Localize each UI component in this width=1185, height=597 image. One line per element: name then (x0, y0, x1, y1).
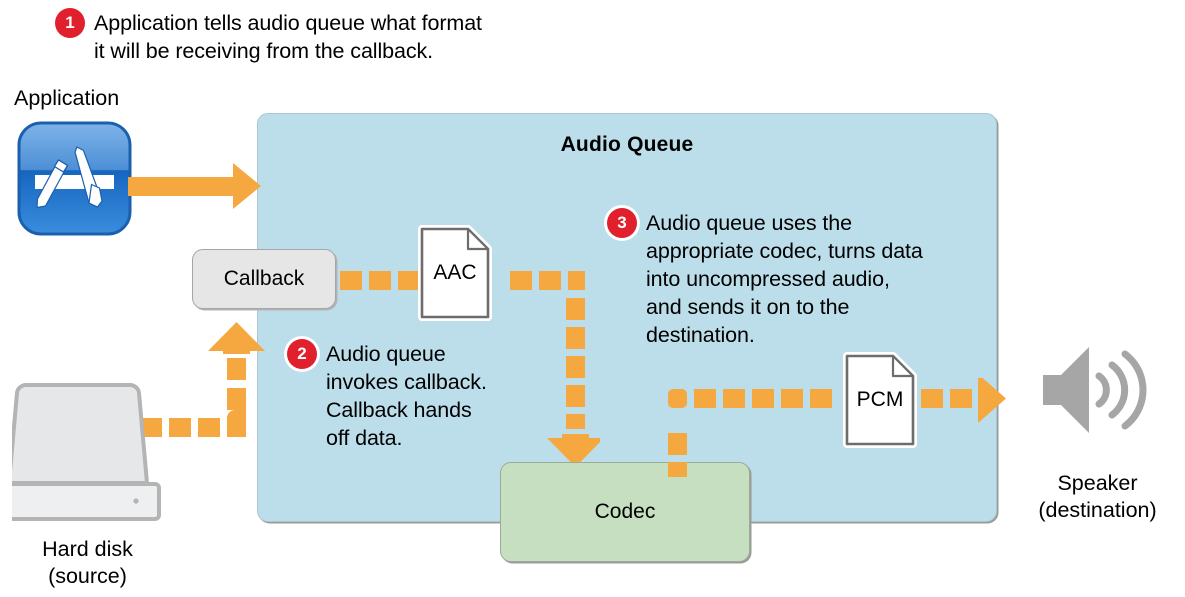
step-1-callout: 1 Application tells audio queue what for… (55, 8, 482, 65)
step-3-callout: 3 Audio queue uses the appropriate codec… (607, 208, 923, 349)
step-2-badge: 2 (287, 339, 317, 369)
pcm-document-icon: PCM (843, 352, 917, 448)
step-2-text: Audio queue invokes callback. Callback h… (326, 339, 487, 452)
application-label: Application (14, 85, 119, 112)
aac-document-icon: AAC (418, 225, 492, 321)
pcm-document-label: PCM (843, 388, 917, 412)
speaker-icon (1041, 345, 1147, 435)
hard-disk-icon (12, 362, 162, 522)
app-store-icon (17, 121, 132, 236)
speaker-label: Speaker (destination) (1010, 470, 1185, 524)
step-3-badge: 3 (607, 208, 637, 238)
audio-queue-title: Audio Queue (257, 133, 997, 157)
application-to-queue-arrow (128, 159, 263, 214)
step-2-callout: 2 Audio queue invokes callback. Callback… (287, 339, 487, 452)
step-3-text: Audio queue uses the appropriate codec, … (646, 208, 923, 349)
hard-disk-label: Hard disk (source) (0, 536, 175, 590)
step-1-text: Application tells audio queue what forma… (94, 8, 482, 65)
aac-document-label: AAC (418, 261, 492, 285)
step-1-badge: 1 (55, 8, 85, 38)
